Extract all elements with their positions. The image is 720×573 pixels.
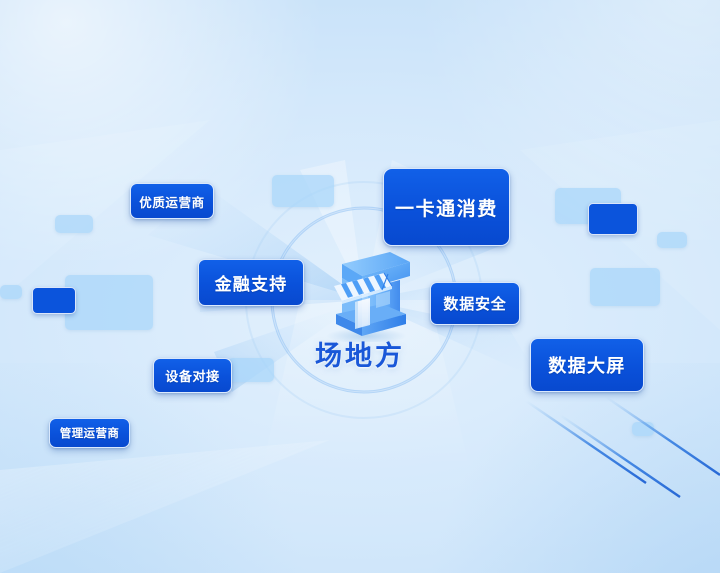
badge-managing-operator[interactable]: 管理运营商	[49, 418, 130, 448]
decor-rect-light	[0, 285, 22, 299]
background-wash-bottom-right	[400, 363, 720, 573]
decor-rect-light	[272, 175, 334, 207]
background-wash-top-left	[0, 0, 360, 260]
badge-financial-support[interactable]: 金融支持	[198, 259, 304, 306]
badge-data-dashboard[interactable]: 数据大屏	[530, 338, 644, 392]
badge-device-integration[interactable]: 设备对接	[153, 358, 232, 393]
badge-quality-operator[interactable]: 优质运营商	[130, 183, 214, 219]
decor-rect-solid	[32, 287, 76, 314]
badge-all-in-one-card-payment[interactable]: 一卡通消费	[383, 168, 510, 246]
decor-rect-light	[65, 275, 153, 330]
storefront-icon	[312, 246, 416, 342]
background-wash-bottom-left	[0, 363, 340, 573]
decor-streak-lines	[520, 393, 720, 513]
decor-rect-light	[632, 422, 654, 436]
decor-rect-solid	[588, 203, 638, 235]
badge-data-security[interactable]: 数据安全	[430, 282, 520, 325]
decor-rect-light	[657, 232, 687, 248]
decor-rect-light	[55, 215, 93, 233]
infographic-canvas: 场地方 优质运营商 金融支持 设备对接 管理运营商 一卡通消费 数据安全 数据大…	[0, 0, 720, 573]
decor-rect-light	[590, 268, 660, 306]
